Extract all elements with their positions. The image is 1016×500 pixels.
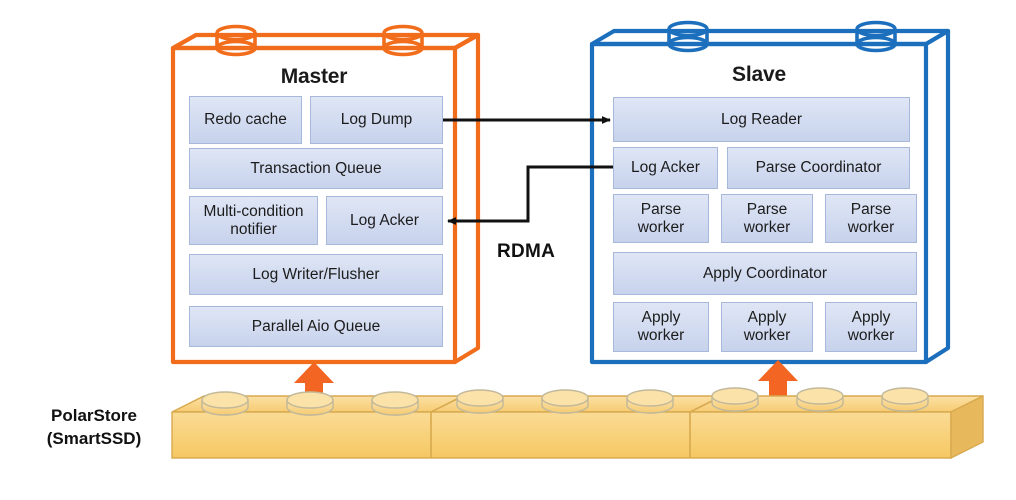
master-component-transaction-queue[interactable]: Transaction Queue [189,148,443,189]
slave-component-parse-worker-1[interactable]: Parse worker [613,194,709,243]
slave-component-apply-worker-1[interactable]: Apply worker [613,302,709,352]
polarstore-caption-line-2: (SmartSSD) [24,428,164,451]
slave-component-apply-worker-2[interactable]: Apply worker [721,302,813,352]
slave-component-apply-worker-3[interactable]: Apply worker [825,302,917,352]
polarstore-caption: PolarStore (SmartSSD) [24,405,164,451]
master-component-log-dump[interactable]: Log Dump [310,96,443,144]
polarstore-caption-line-1: PolarStore [24,405,164,428]
rdma-link-logacker-to-logacker [448,167,613,221]
master-component-log-writer-flusher[interactable]: Log Writer/Flusher [189,254,443,295]
slave-component-log-acker[interactable]: Log Acker [613,147,718,189]
rdma-label: RDMA [497,241,555,263]
slave-title: Slave [592,63,926,87]
master-component-parallel-aio-queue[interactable]: Parallel Aio Queue [189,306,443,347]
slave-component-parse-coordinator[interactable]: Parse Coordinator [727,147,910,189]
master-component-log-acker[interactable]: Log Acker [326,196,443,245]
polarstore-studs [202,388,928,415]
polarstore-slab [172,388,983,458]
slave-component-parse-worker-2[interactable]: Parse worker [721,194,813,243]
architecture-diagram: Master Redo cache Log Dump Transaction Q… [0,0,1016,500]
master-title: Master [173,65,455,89]
slave-component-parse-worker-3[interactable]: Parse worker [825,194,917,243]
slave-component-log-reader[interactable]: Log Reader [613,97,910,142]
master-component-multi-condition-notifier[interactable]: Multi-condition notifier [189,196,318,245]
master-component-redo-cache[interactable]: Redo cache [189,96,302,144]
slave-component-apply-coordinator[interactable]: Apply Coordinator [613,252,917,295]
